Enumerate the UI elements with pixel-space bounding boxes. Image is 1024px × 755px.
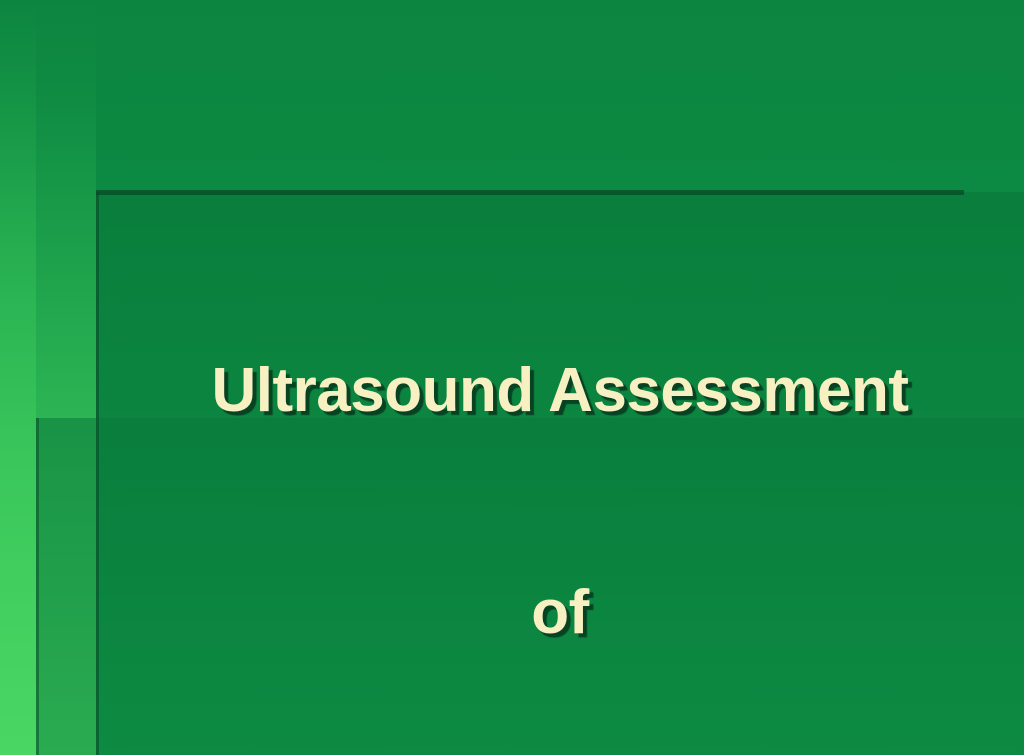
slide-title-line-2: of (96, 576, 1024, 650)
background-left-edge-highlight (0, 0, 36, 755)
slide-canvas: Ultrasound Assessment of Early Pregnancy (0, 0, 1024, 755)
slide-title-line-1: Ultrasound Assessment (96, 354, 1024, 428)
title-placeholder-top-rule (96, 190, 964, 195)
slide-title[interactable]: Ultrasound Assessment of Early Pregnancy (96, 196, 1024, 755)
